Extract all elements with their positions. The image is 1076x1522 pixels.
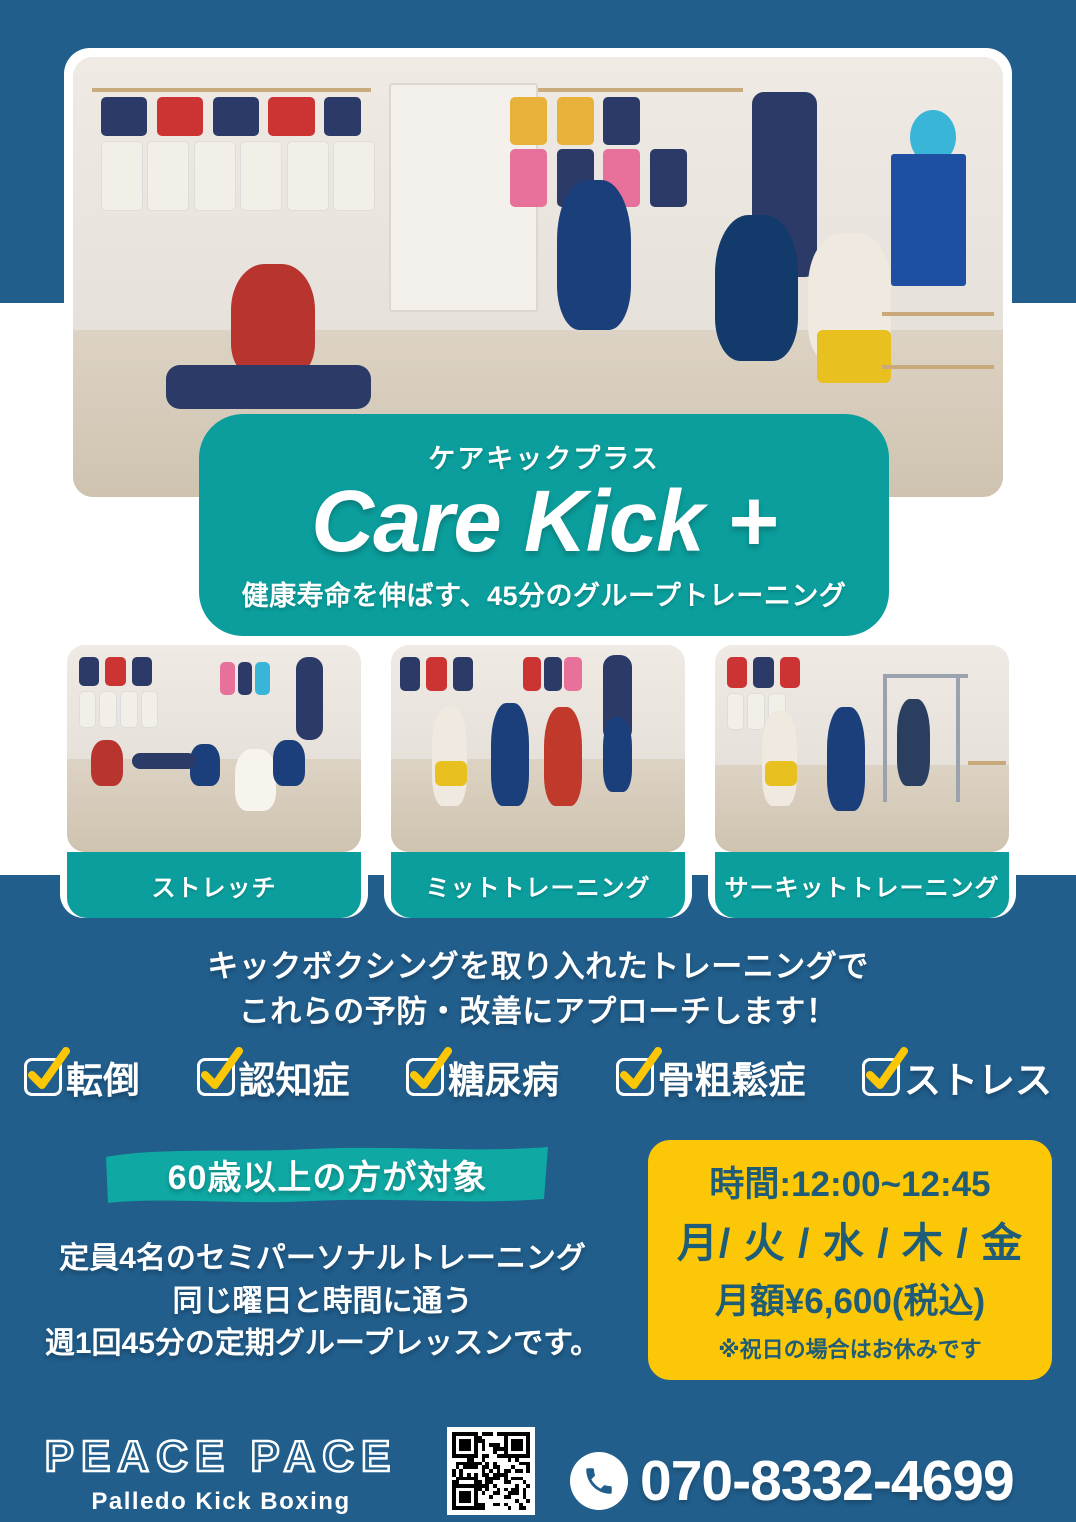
wall-pad <box>544 657 562 690</box>
phone-number: 070-8332-4699 <box>640 1448 1014 1514</box>
target-audience-label: 60歳以上の方が対象 <box>100 1143 555 1205</box>
title-kana: ケアキックプラス <box>428 437 659 476</box>
person-shorts-yellow <box>765 761 797 786</box>
photo-card-mitt: ミットトレーニング <box>384 638 692 918</box>
checklist-label: 骨粗鬆症 <box>658 1050 806 1104</box>
banner <box>891 154 965 286</box>
checklist-label: 転倒 <box>66 1050 140 1104</box>
checklist-label: ストレス <box>904 1050 1052 1104</box>
wall-pad <box>523 657 541 690</box>
phone-icon <box>570 1452 628 1510</box>
wall-pad <box>132 657 153 686</box>
logo-wordmark: PEACE PACE <box>36 1432 406 1482</box>
wall-pad <box>255 662 270 695</box>
shelf <box>968 761 1006 765</box>
equipment-frame <box>883 674 887 802</box>
photo-card-stretch: ストレッチ <box>60 638 368 918</box>
shin-guard <box>240 141 282 211</box>
checklist-item-stress: ストレス <box>862 1050 1052 1104</box>
checkbox-checked-icon <box>197 1058 235 1096</box>
title-panel: ケアキックプラス Care Kick + 健康寿命を伸ばす、45分のグループトレ… <box>199 414 889 636</box>
checklist-label: 認知症 <box>239 1050 350 1104</box>
description-line-3: 週1回45分の定期グループレッスンです。 <box>10 1323 635 1366</box>
target-audience-badge: 60歳以上の方が対象 <box>100 1143 555 1205</box>
photo-circuit-image <box>715 645 1009 852</box>
schedule-price-box: 時間:12:00~12:45 月/ 火 / 水 / 木 / 金 月額¥6,600… <box>648 1140 1052 1380</box>
shin-guard <box>79 691 97 728</box>
holiday-note: ※祝日の場合はお休みです <box>718 1332 981 1364</box>
wall-pad <box>400 657 421 690</box>
description-line-1: 定員4名のセミパーソナルトレーニング <box>10 1238 635 1281</box>
monthly-price: 月額¥6,600(税込) <box>715 1273 985 1324</box>
wall-pad <box>426 657 447 690</box>
checklist-item-osteoporosis: 骨粗鬆症 <box>616 1050 806 1104</box>
title-subtitle: 健康寿命を伸ばす、45分のグループトレーニング <box>242 574 847 613</box>
wall-pad <box>220 662 235 695</box>
equipment-frame <box>956 674 960 802</box>
phone-contact[interactable]: 070-8332-4699 <box>570 1448 1014 1514</box>
photo-card-row: ストレッチ ミットトレーニング <box>60 638 1016 918</box>
person-trainer <box>715 215 799 360</box>
photo-caption: ミットトレーニング <box>391 852 685 918</box>
shin-guard <box>194 141 236 211</box>
logo-tagline: Palledo Kick Boxing <box>36 1488 406 1516</box>
wall-pad <box>268 97 315 137</box>
description-line-2: 同じ曜日と時間に通う <box>10 1281 635 1324</box>
equipment-rack <box>92 88 371 92</box>
shin-guard <box>120 691 138 728</box>
person-trainer <box>762 711 797 806</box>
headline-line-2: これらの予防・改善にアプローチします！ <box>0 990 1076 1035</box>
checklist-item-diabetes: 糖尿病 <box>406 1050 559 1104</box>
photo-card-circuit: サーキットトレーニング <box>708 638 1016 918</box>
brand-logo: PEACE PACE Palledo Kick Boxing <box>36 1432 406 1516</box>
wall-pad <box>79 657 100 686</box>
shin-guard <box>141 691 159 728</box>
checklist-item-fall: 転倒 <box>24 1050 140 1104</box>
shin-guard <box>287 141 329 211</box>
wall-pad <box>564 657 582 690</box>
photo-stretch-image <box>67 645 361 852</box>
wall-pad <box>557 97 594 145</box>
photo-caption: ストレッチ <box>67 852 361 918</box>
wall-pad <box>510 97 547 145</box>
person-seated-front <box>235 749 276 811</box>
wall-pad <box>238 662 253 695</box>
wall-pad <box>727 657 748 688</box>
person-seated <box>273 740 305 786</box>
person-seated-red <box>231 264 315 378</box>
person-shorts-yellow <box>817 330 891 383</box>
shin-guard <box>101 141 143 211</box>
person-standing-blue <box>557 180 631 330</box>
floor-roller <box>166 365 371 409</box>
wall-pad <box>213 97 260 137</box>
headline: キックボクシングを取り入れたトレーニングで これらの予防・改善にアプローチします… <box>0 945 1076 1035</box>
checkbox-checked-icon <box>24 1058 62 1096</box>
checkbox-checked-icon <box>616 1058 654 1096</box>
wall-pad <box>510 149 547 206</box>
shin-guard <box>747 693 765 730</box>
qr-code[interactable] <box>447 1427 535 1515</box>
person-on-machine <box>897 699 929 786</box>
checkbox-checked-icon <box>406 1058 444 1096</box>
shelf <box>882 312 994 316</box>
photo-mitt-image <box>391 645 685 852</box>
shin-guard <box>99 691 117 728</box>
schedule-time: 時間:12:00~12:45 <box>709 1156 990 1207</box>
page-title: Care Kick + <box>311 478 776 567</box>
punching-bag <box>296 657 322 740</box>
wall-pad <box>780 657 801 688</box>
wall-pad <box>650 149 687 206</box>
checklist-item-dementia: 認知症 <box>197 1050 350 1104</box>
wall-pad <box>603 97 640 145</box>
person-trainer <box>432 707 467 806</box>
person-seated <box>91 740 123 786</box>
wall-pad <box>101 97 148 137</box>
photo-caption: サーキットトレーニング <box>715 852 1009 918</box>
wall-pad <box>453 657 474 690</box>
checklist-label: 糖尿病 <box>448 1050 559 1104</box>
checkbox-checked-icon <box>862 1058 900 1096</box>
wall-pad <box>157 97 204 137</box>
person-shorts-yellow <box>435 761 467 786</box>
wall-pad <box>105 657 126 686</box>
person-puncher <box>544 707 582 806</box>
shelf <box>882 365 994 369</box>
qr-code-pattern <box>452 1432 530 1510</box>
wall-pad <box>324 97 361 137</box>
benefit-checklist: 転倒 認知症 糖尿病 骨粗鬆症 ストレス <box>24 1048 1052 1106</box>
shin-guard <box>727 693 745 730</box>
schedule-days: 月/ 火 / 水 / 木 / 金 <box>677 1209 1023 1269</box>
shin-guard <box>333 141 375 211</box>
headline-line-1: キックボクシングを取り入れたトレーニングで <box>0 945 1076 990</box>
person-mitt-holder <box>491 703 529 807</box>
wall-pad <box>753 657 774 688</box>
person-standing <box>603 717 632 792</box>
lesson-description: 定員4名のセミパーソナルトレーニング 同じ曜日と時間に通う 週1回45分の定期グ… <box>10 1238 635 1366</box>
equipment-frame <box>883 674 968 678</box>
shin-guard <box>147 141 189 211</box>
floor-roller <box>132 753 197 770</box>
person-exercising <box>827 707 865 811</box>
